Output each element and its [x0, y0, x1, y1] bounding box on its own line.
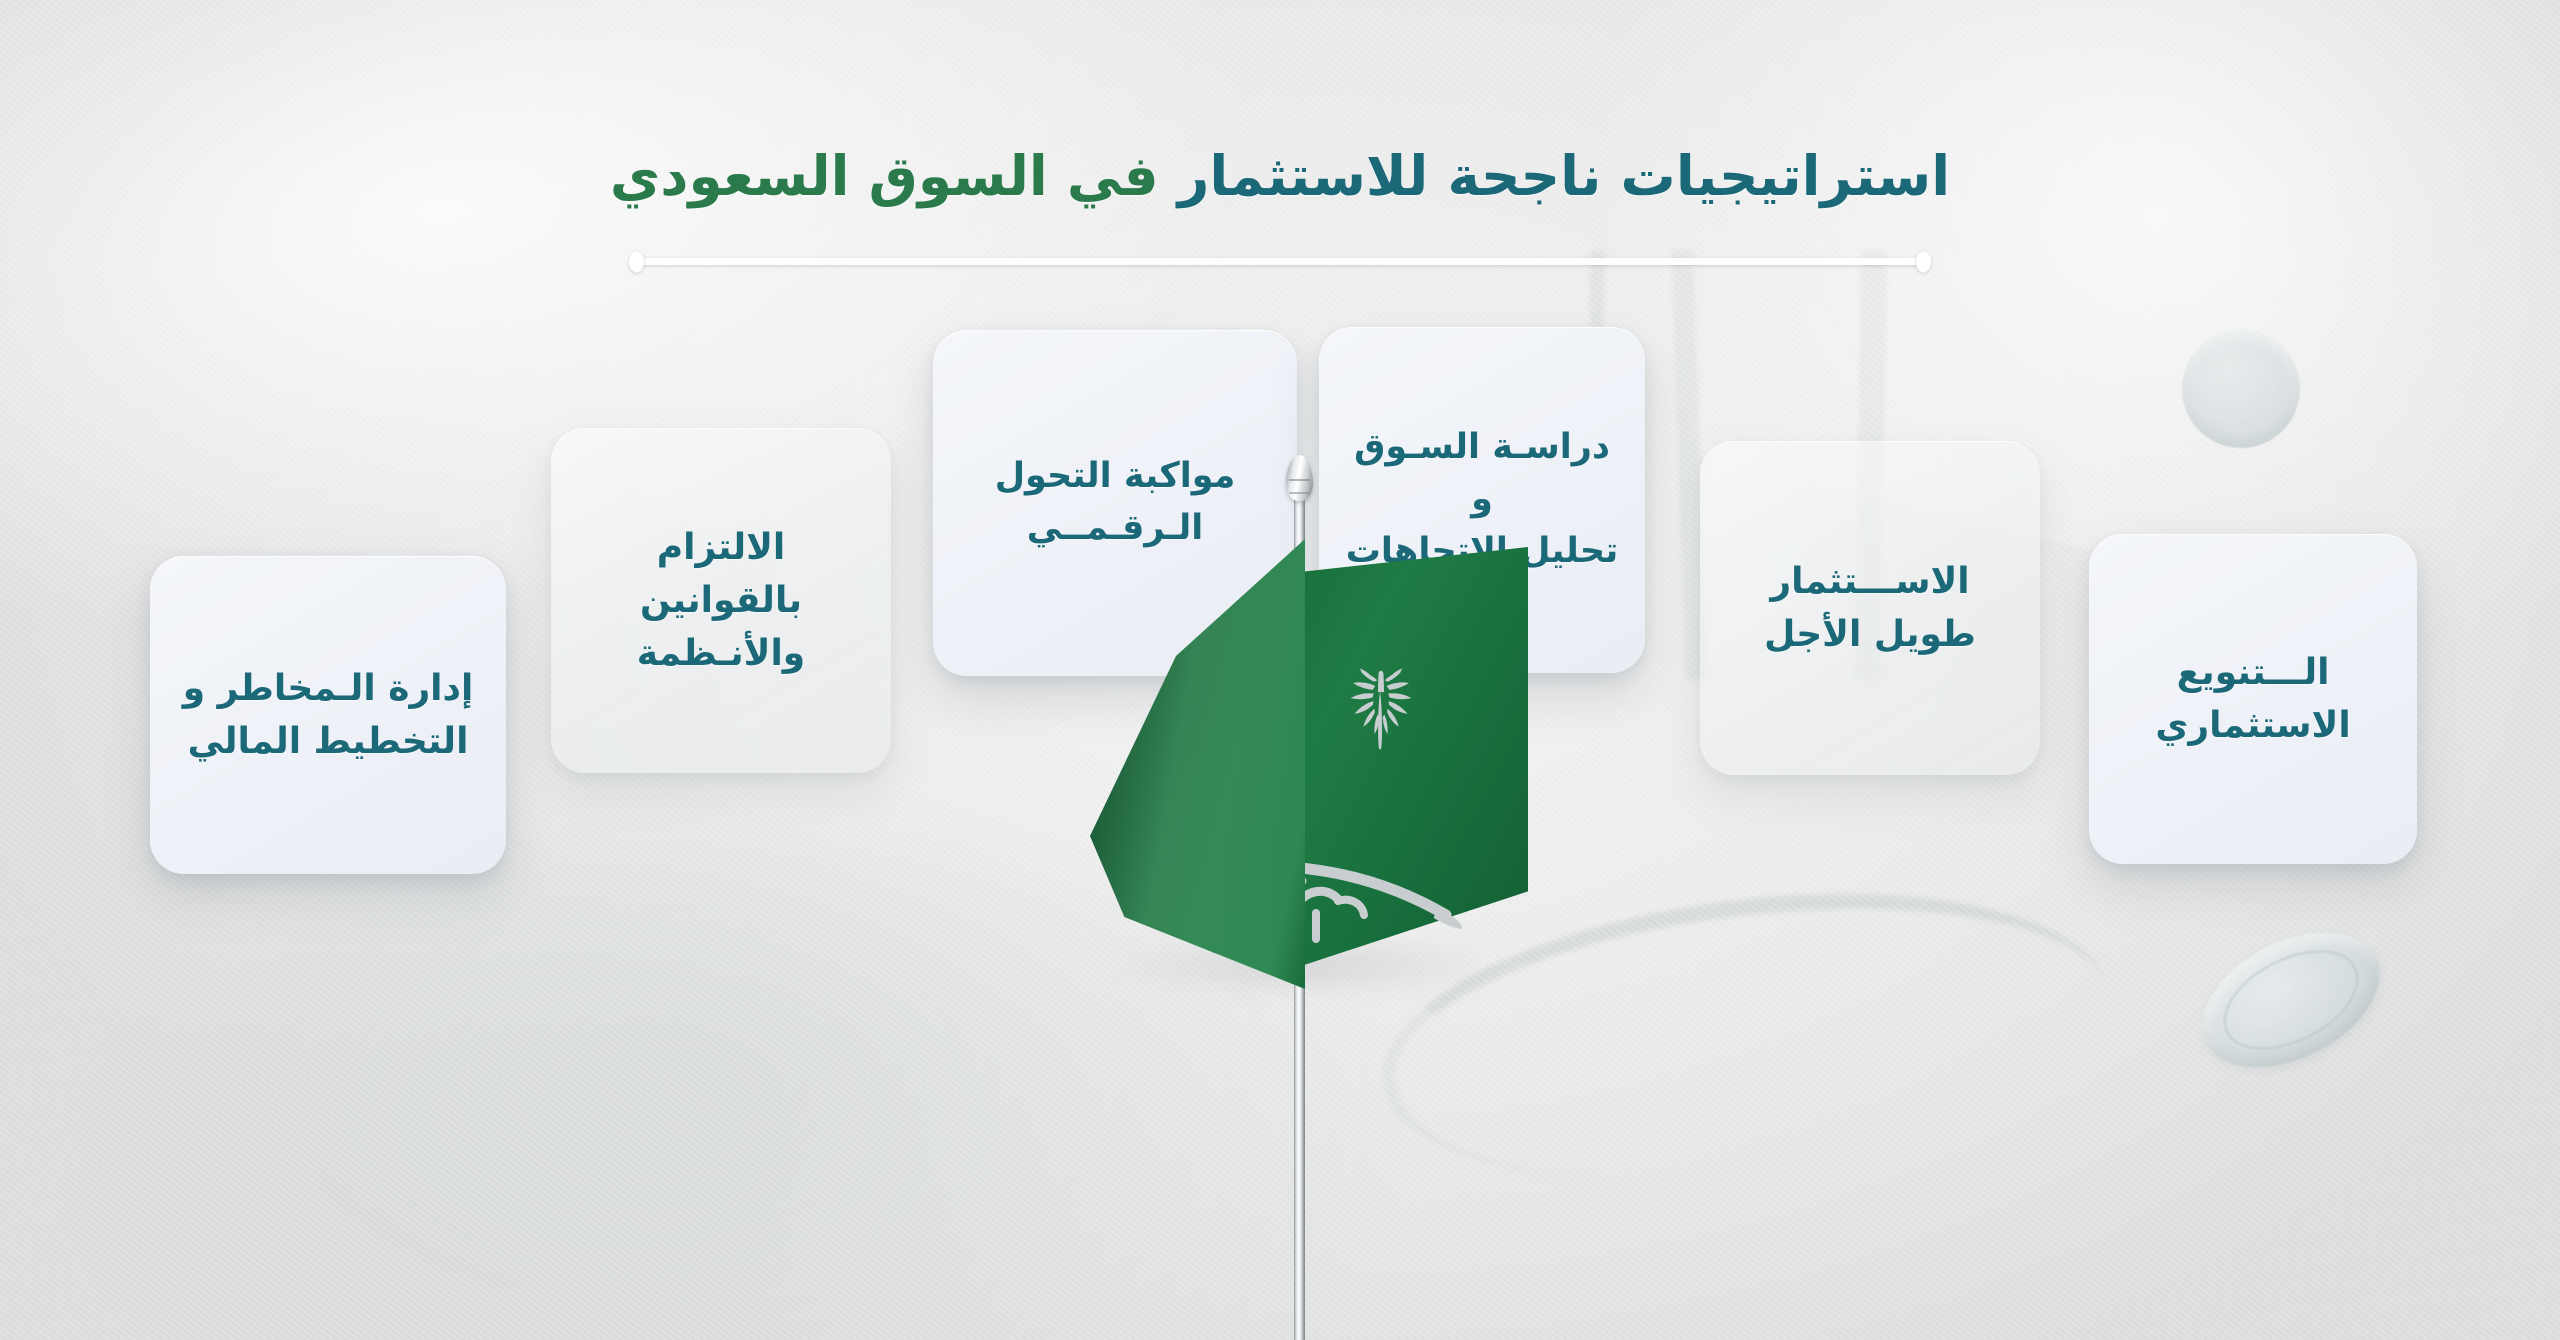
flag-shadow	[1110, 935, 1500, 995]
strategy-card-risk-management[interactable]: إدارة الـمخاطر و التخطيط المالي	[150, 556, 506, 874]
page-title-segment-accent: في السوق السعودي	[610, 144, 1178, 208]
strategy-card-label: الاســـتثمار طويل الأجل	[1764, 555, 1976, 662]
sword-icon	[1146, 805, 1476, 965]
page-title: استراتيجيات ناجحة للاستثمار في السوق الس…	[610, 142, 1950, 211]
background-soft-blob	[120, 830, 1370, 1340]
strategy-card-label: مواكبة التحول الـرقـمــي	[995, 451, 1236, 555]
coin-icon	[2182, 330, 2300, 448]
page-title-block: استراتيجيات ناجحة للاستثمار في السوق الس…	[0, 142, 2560, 211]
strategy-card-digital-transformation[interactable]: مواكبة التحول الـرقـمــي	[933, 330, 1297, 676]
title-divider	[635, 258, 1925, 265]
strategy-card-label: الالتزام بالقوانين والأنـظمة	[571, 521, 871, 681]
coin-icon	[2180, 905, 2402, 1095]
strategy-card-label: إدارة الـمخاطر و التخطيط المالي	[183, 662, 474, 769]
infographic-canvas: استراتيجيات ناجحة للاستثمار في السوق الس…	[0, 0, 2560, 1340]
strategy-card-market-research[interactable]: دراسـة السـوق و تحليل الاتجاهات	[1319, 327, 1645, 673]
page-title-segment-primary: استراتيجيات ناجحة للاستثمار	[1178, 144, 1950, 208]
background-swoosh-watermark	[1366, 856, 2126, 1219]
strategy-card-label: دراسـة السـوق و تحليل الاتجاهات	[1339, 422, 1625, 577]
strategy-card-investment-diversification[interactable]: الـــتنويع الاستثماري	[2089, 534, 2417, 864]
strategy-card-regulatory-compliance[interactable]: الالتزام بالقوانين والأنـظمة	[551, 428, 891, 773]
strategy-card-long-term-investment[interactable]: الاســـتثمار طويل الأجل	[1700, 441, 2040, 775]
strategy-card-label: الـــتنويع الاستثماري	[2155, 646, 2350, 753]
